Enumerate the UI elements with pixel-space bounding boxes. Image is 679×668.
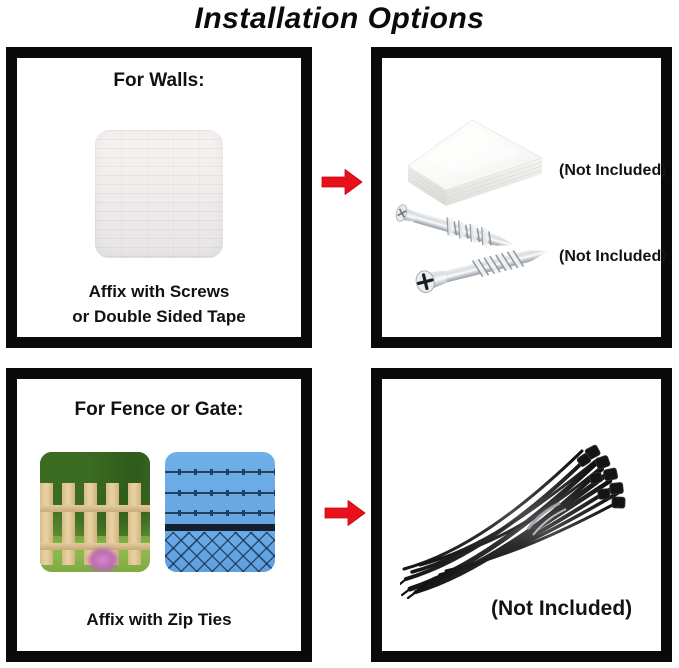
- panel-for-walls-heading: For Walls:: [17, 70, 301, 92]
- zip-ties-image: [400, 429, 630, 599]
- tape-not-included-label: (Not Included): [559, 162, 667, 180]
- panel-for-walls-caption-line2: or Double Sided Tape: [17, 304, 301, 329]
- panel-for-fence-heading: For Fence or Gate:: [17, 399, 301, 421]
- wall-texture-image: [95, 130, 223, 258]
- panel-for-fence-caption: Affix with Zip Ties: [17, 607, 301, 632]
- screws-not-included-label: (Not Included): [559, 248, 667, 266]
- arrow-right-icon-bottom: [324, 499, 366, 527]
- installation-options-page: Installation Options For Walls: Affix wi…: [0, 0, 679, 668]
- screws-image: [392, 198, 582, 308]
- zip-ties-not-included-label: (Not Included): [491, 597, 632, 621]
- panel-wall-hardware: (Not Included): [371, 47, 672, 348]
- arrow-right-icon-top: [321, 168, 363, 196]
- wooden-fence-image: [40, 452, 150, 572]
- panel-for-fence-or-gate: For Fence or Gate: Affix with Zip Ties: [6, 368, 312, 662]
- panel-zip-ties: (Not Included): [371, 368, 672, 662]
- double-sided-tape-image: [402, 114, 554, 210]
- panel-for-walls: For Walls: Affix with Screws or Double S…: [6, 47, 312, 348]
- chain-link-fence-image: [165, 452, 275, 572]
- panel-for-walls-caption-line1: Affix with Screws: [17, 279, 301, 304]
- page-title: Installation Options: [0, 2, 679, 36]
